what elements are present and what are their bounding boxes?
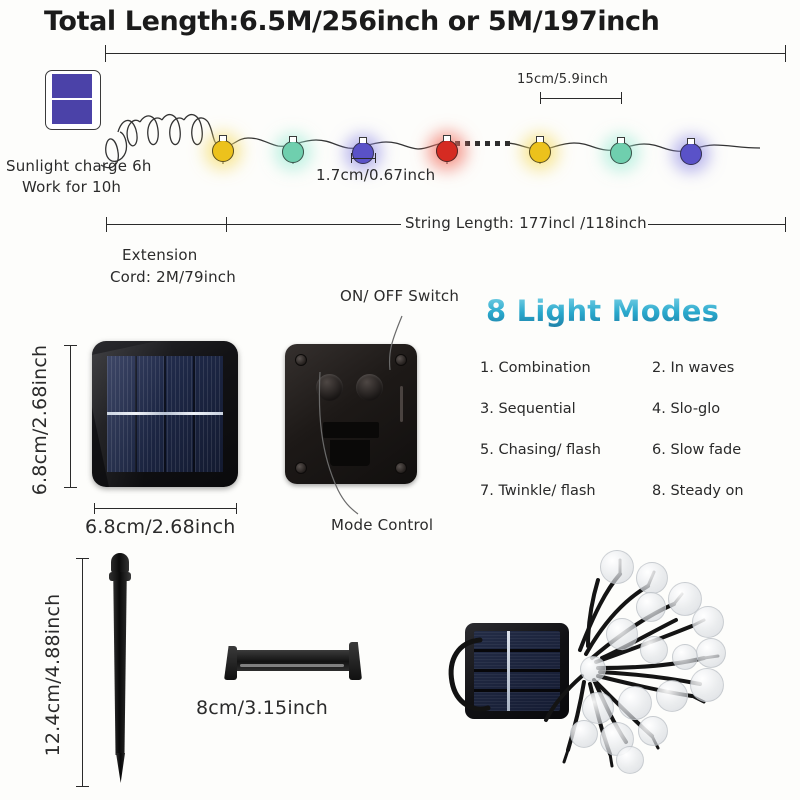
bundle-bulb [616, 746, 644, 774]
bulb-cap [359, 137, 367, 143]
bundle-bulb [640, 636, 668, 664]
mode-control-label: Mode Control [331, 516, 433, 534]
bulb-cap [617, 137, 625, 143]
bulb-cap [687, 138, 695, 144]
mounting-hook-product [222, 640, 362, 688]
bundle-bulb [580, 656, 606, 682]
string-length-tick-right [785, 217, 786, 232]
bulb-spacing-dimension-line [540, 98, 621, 99]
work-duration-label: Work for 10h [22, 178, 121, 196]
light-mode-5: 5. Chasing/ flash [480, 442, 652, 458]
solar-panel-busbar [107, 412, 223, 415]
bundle-cord [440, 620, 500, 730]
bulb-glass [680, 143, 702, 165]
bulb-yellow-2 [529, 141, 551, 163]
bulb-glass [610, 142, 632, 164]
bundle-bulb [636, 592, 666, 622]
bulb-spacing-tick-right [621, 92, 622, 104]
extension-cord-tick-left [106, 217, 107, 232]
bulb-cap [443, 135, 451, 141]
bundle-bulb [600, 550, 634, 584]
hook-end-left [224, 646, 237, 680]
stake-height-tick-bottom [76, 786, 89, 787]
bulb-blue-2 [680, 143, 702, 165]
bulb-blue-1 [352, 142, 374, 164]
light-mode-6: 6. Slow fade [652, 442, 796, 458]
bulb-green-2 [610, 142, 632, 164]
stake-tip [116, 753, 125, 783]
infographic-canvas: Total Length:6.5M/256inch or 5M/197inch [0, 0, 800, 800]
light-modes-heading: 8 Light Modes [486, 294, 719, 328]
mode-control-leader [300, 372, 430, 517]
solar-panel-width-label: 6.8cm/2.68inch [85, 516, 236, 538]
stake-shaft [112, 580, 128, 755]
extension-cord-dimension-line [106, 224, 226, 225]
solar-panel-width-tick-left [94, 503, 95, 514]
bundle-bulb [582, 692, 614, 724]
hook-end-right [349, 642, 362, 680]
bundle-bulb [638, 716, 668, 746]
light-mode-1: 1. Combination [480, 360, 652, 376]
bulb-glass [282, 141, 304, 163]
hook-width-label: 8cm/3.15inch [196, 697, 328, 719]
on-off-switch-leader [330, 300, 460, 370]
bulb-glass [352, 142, 374, 164]
stake-height-label: 12.4cm/4.88inch [42, 580, 64, 770]
bulb-size-tick-right [375, 153, 376, 163]
light-mode-3: 3. Sequential [480, 401, 652, 417]
solar-panel-width-dimension-line [94, 508, 236, 509]
on-off-switch-label: ON/ OFF Switch [340, 287, 459, 305]
solar-panel-product [92, 341, 238, 487]
bulb-glass [436, 140, 458, 162]
light-mode-2: 2. In waves [652, 360, 796, 376]
screw-top-left [295, 354, 307, 366]
bulb-yellow-1 [212, 140, 234, 162]
light-mode-7: 7. Twinkle/ flash [480, 483, 652, 499]
string-continuation-dots [455, 141, 510, 146]
bundle-busbar [507, 631, 510, 711]
string-length-dimension-line-right [648, 224, 785, 225]
bulb-glass [529, 141, 551, 163]
bulb-cap [219, 135, 227, 141]
solar-panel-height-dimension-line [70, 345, 71, 487]
bulb-spacing-label: 15cm/5.9inch [517, 72, 608, 87]
bulb-red-1 [436, 140, 458, 162]
stake-head [111, 553, 129, 573]
bulb-size-tick-left [351, 153, 352, 163]
solar-panel-height-label: 6.8cm/2.68inch [29, 340, 51, 500]
bulb-cap [289, 136, 297, 142]
bundle-bulb [672, 644, 698, 670]
stake-collar [109, 572, 131, 581]
solar-panel-width-tick-right [236, 503, 237, 514]
sunlight-charge-label: Sunlight charge 6h [6, 157, 152, 175]
light-mode-8: 8. Steady on [652, 483, 796, 499]
page-title: Total Length:6.5M/256inch or 5M/197inch [44, 6, 659, 37]
bulb-size-label: 1.7cm/0.67inch [316, 166, 435, 184]
bulb-size-dimension-line [351, 158, 375, 159]
bulb-cap [536, 136, 544, 142]
total-length-dimension-line [105, 53, 785, 54]
extension-cord-label-line2: Cord: 2M/79inch [110, 268, 236, 286]
solar-panel-height-tick-bottom [64, 487, 77, 488]
bundle-bulb [618, 686, 652, 720]
bundle-bulb [570, 720, 598, 748]
solar-panel-glass [107, 356, 223, 472]
bundle-bulb [696, 638, 726, 668]
solar-panel-reflection [81, 338, 202, 513]
light-mode-4: 4. Slo-glo [652, 401, 796, 417]
bundle-bulb [692, 606, 724, 638]
bundle-bulb [636, 562, 668, 594]
string-length-label: String Length: 177incl /118inch [405, 214, 647, 232]
bundle-bulb [606, 618, 638, 650]
bulb-glass [212, 140, 234, 162]
string-length-dimension-line-left [226, 224, 401, 225]
hook-highlight [240, 664, 344, 667]
hook-bar [230, 650, 354, 671]
extension-cord-label-line1: Extension [122, 246, 197, 264]
bundle-bulb [690, 668, 724, 702]
ground-stake-product [107, 553, 133, 783]
string-length-text: String Length: 177incl /118inch [405, 214, 647, 232]
solar-panel-height-tick-top [64, 345, 77, 346]
bundled-product-photo [440, 540, 790, 790]
bundle-bulb [656, 680, 688, 712]
bulb-green-1 [282, 141, 304, 163]
bulb-spacing-tick-left [540, 92, 541, 104]
light-modes-list: 1. Combination 2. In waves 3. Sequential… [480, 360, 796, 499]
stake-height-tick-top [76, 558, 89, 559]
stake-height-dimension-line [82, 558, 83, 786]
